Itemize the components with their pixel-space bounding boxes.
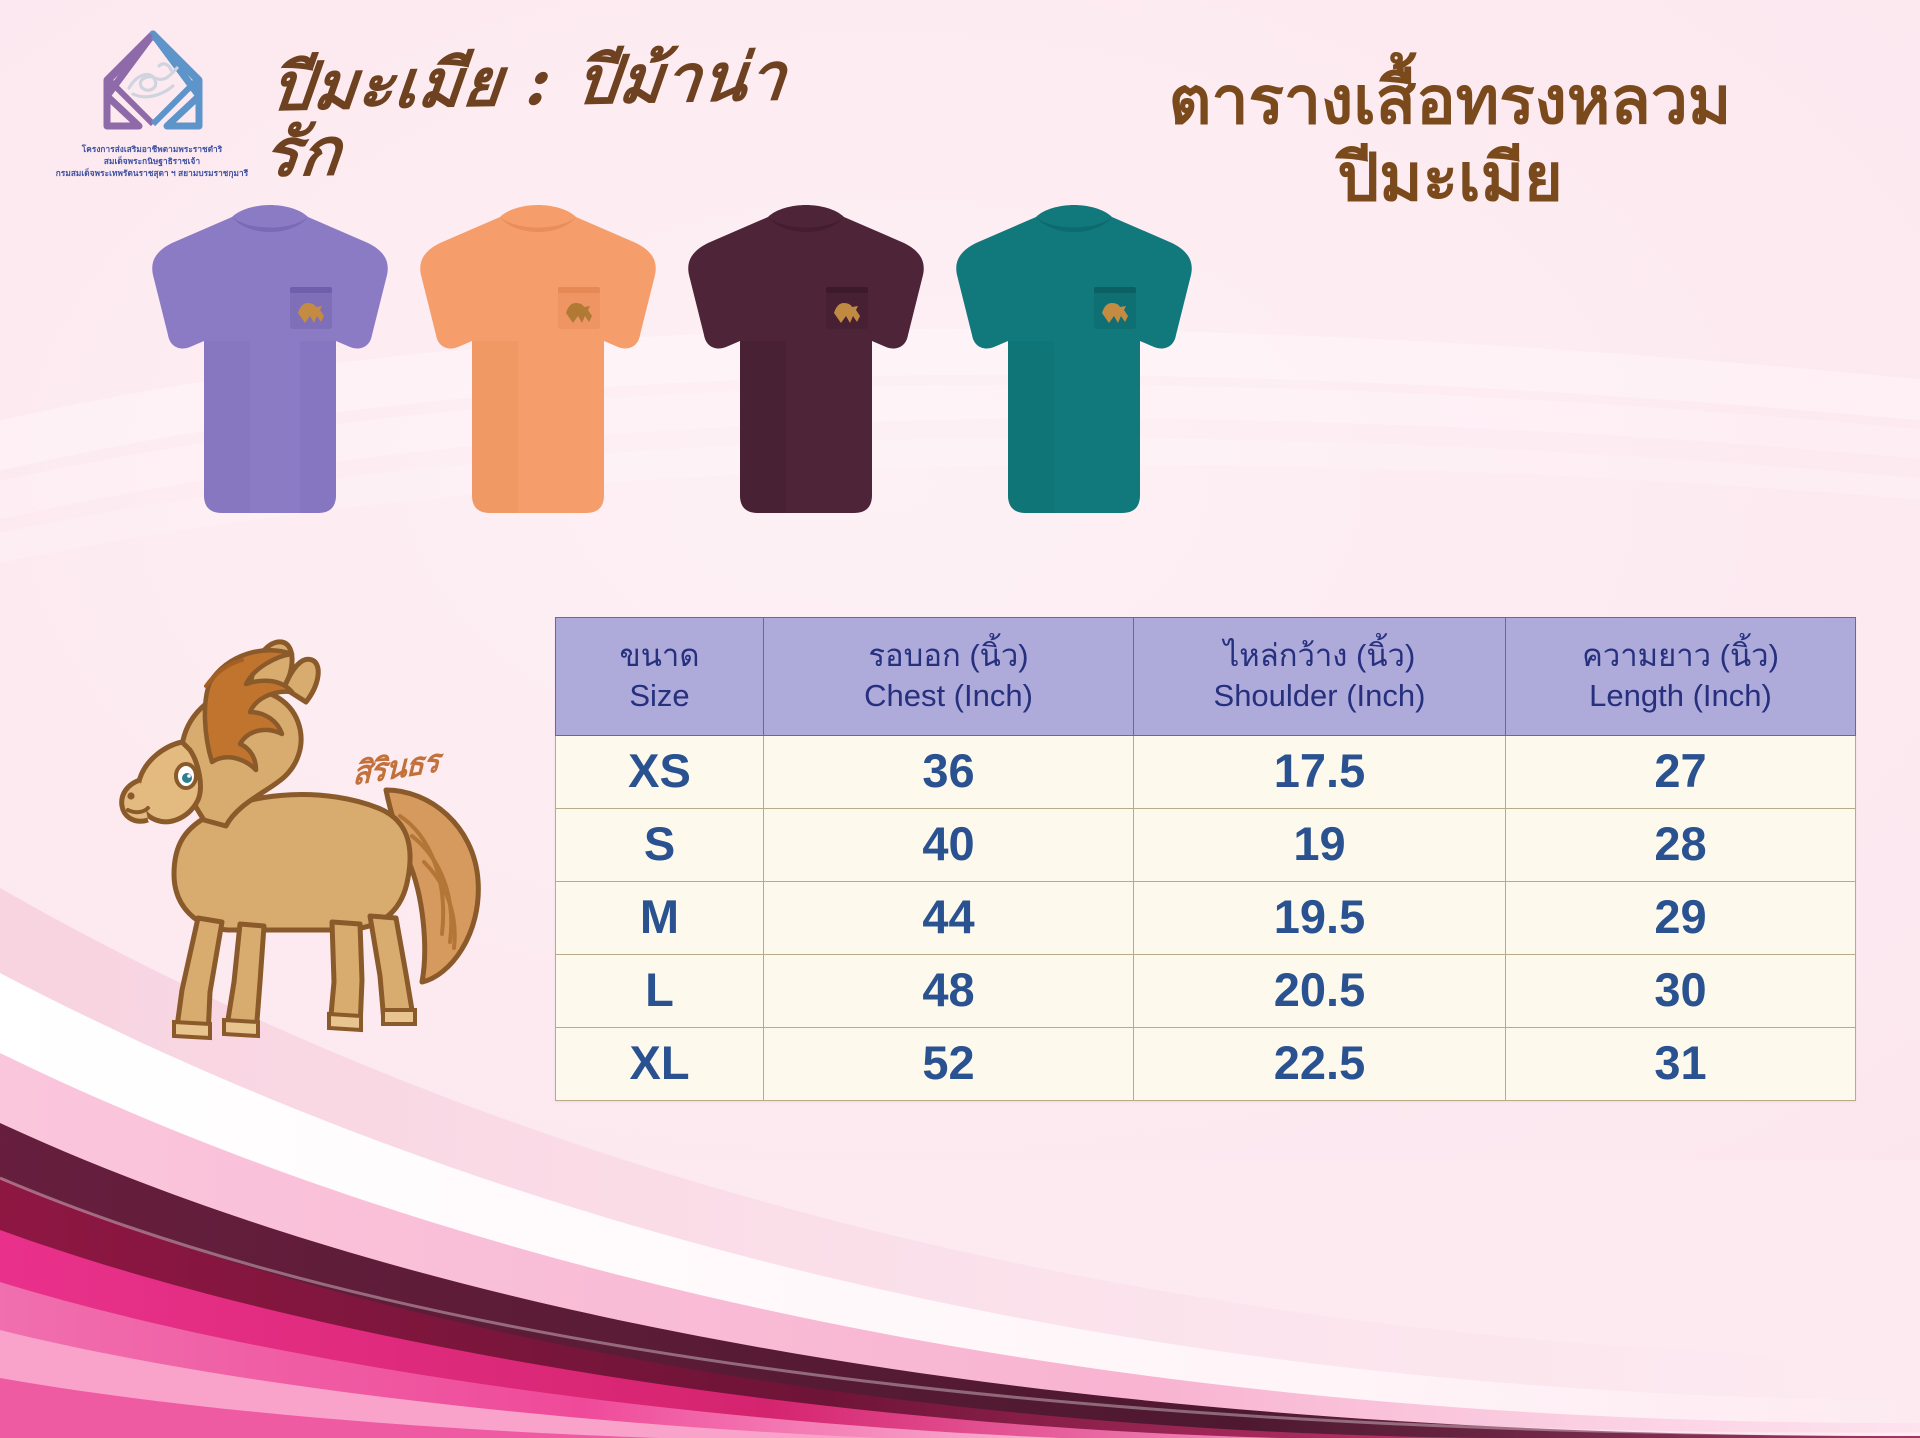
header-length-en: Length (Inch) <box>1510 676 1851 716</box>
cell-chest: 44 <box>764 882 1134 955</box>
page-title: ตารางเสื้อทรงหลวม ปีมะเมีย <box>1040 62 1860 215</box>
logo-caption: โครงการส่งเสริมอาชีพตามพระราชดำริ สมเด็จ… <box>52 144 252 180</box>
shirt-teal <box>944 195 1202 515</box>
table-row: XL 52 22.5 31 <box>556 1028 1856 1101</box>
cell-size: S <box>556 809 764 882</box>
cell-shoulder: 20.5 <box>1134 955 1506 1028</box>
poster-canvas: โครงการส่งเสริมอาชีพตามพระราชดำริ สมเด็จ… <box>0 0 1920 1438</box>
shirt-gallery <box>140 195 1200 515</box>
royal-project-diamond-logo-icon <box>93 22 211 140</box>
cell-length: 27 <box>1506 736 1856 809</box>
header-size-th: ขนาด <box>620 638 700 673</box>
header-shoulder: ไหล่กว้าง (นิ้ว) Shoulder (Inch) <box>1134 618 1506 736</box>
logo-caption-line2: สมเด็จพระกนิษฐาธิราชเจ้า <box>52 156 252 168</box>
cell-length: 29 <box>1506 882 1856 955</box>
cell-size: L <box>556 955 764 1028</box>
shirt-purple <box>140 195 398 515</box>
header-chest: รอบอก (นิ้ว) Chest (Inch) <box>764 618 1134 736</box>
header-shoulder-th: ไหล่กว้าง (นิ้ว) <box>1224 638 1416 673</box>
table-header-row: ขนาด Size รอบอก (นิ้ว) Chest (Inch) ไหล่… <box>556 618 1856 736</box>
size-chart-table: ขนาด Size รอบอก (นิ้ว) Chest (Inch) ไหล่… <box>555 617 1856 1101</box>
handwritten-subtitle: ปีมะเมีย : ปีม้าน่ารัก <box>261 42 836 186</box>
table-row: S 40 19 28 <box>556 809 1856 882</box>
header-size-en: Size <box>560 676 759 716</box>
cell-shoulder: 19.5 <box>1134 882 1506 955</box>
cell-chest: 40 <box>764 809 1134 882</box>
header-chest-th: รอบอก (นิ้ว) <box>868 638 1028 673</box>
cell-length: 31 <box>1506 1028 1856 1101</box>
header-chest-en: Chest (Inch) <box>768 676 1129 716</box>
header-length: ความยาว (นิ้ว) Length (Inch) <box>1506 618 1856 736</box>
cell-length: 28 <box>1506 809 1856 882</box>
table-row: XS 36 17.5 27 <box>556 736 1856 809</box>
header-size: ขนาด Size <box>556 618 764 736</box>
table-row: M 44 19.5 29 <box>556 882 1856 955</box>
page-title-line1: ตารางเสื้อทรงหลวม <box>1169 63 1732 137</box>
cell-size: XL <box>556 1028 764 1101</box>
header-length-th: ความยาว (นิ้ว) <box>1582 638 1779 673</box>
cell-shoulder: 22.5 <box>1134 1028 1506 1101</box>
cell-chest: 36 <box>764 736 1134 809</box>
cell-shoulder: 19 <box>1134 809 1506 882</box>
header-shoulder-en: Shoulder (Inch) <box>1138 676 1501 716</box>
cell-length: 30 <box>1506 955 1856 1028</box>
table-row: L 48 20.5 30 <box>556 955 1856 1028</box>
shirt-plum <box>676 195 934 515</box>
cell-chest: 52 <box>764 1028 1134 1101</box>
cell-chest: 48 <box>764 955 1134 1028</box>
cell-shoulder: 17.5 <box>1134 736 1506 809</box>
cell-size: XS <box>556 736 764 809</box>
royal-project-logo: โครงการส่งเสริมอาชีพตามพระราชดำริ สมเด็จ… <box>52 22 252 180</box>
logo-caption-line1: โครงการส่งเสริมอาชีพตามพระราชดำริ <box>52 144 252 156</box>
horse-mascot-illustration <box>78 630 498 1060</box>
shirt-orange <box>408 195 666 515</box>
logo-caption-line3: กรมสมเด็จพระเทพรัตนราชสุดา ฯ สยามบรมราชก… <box>52 168 252 180</box>
cell-size: M <box>556 882 764 955</box>
